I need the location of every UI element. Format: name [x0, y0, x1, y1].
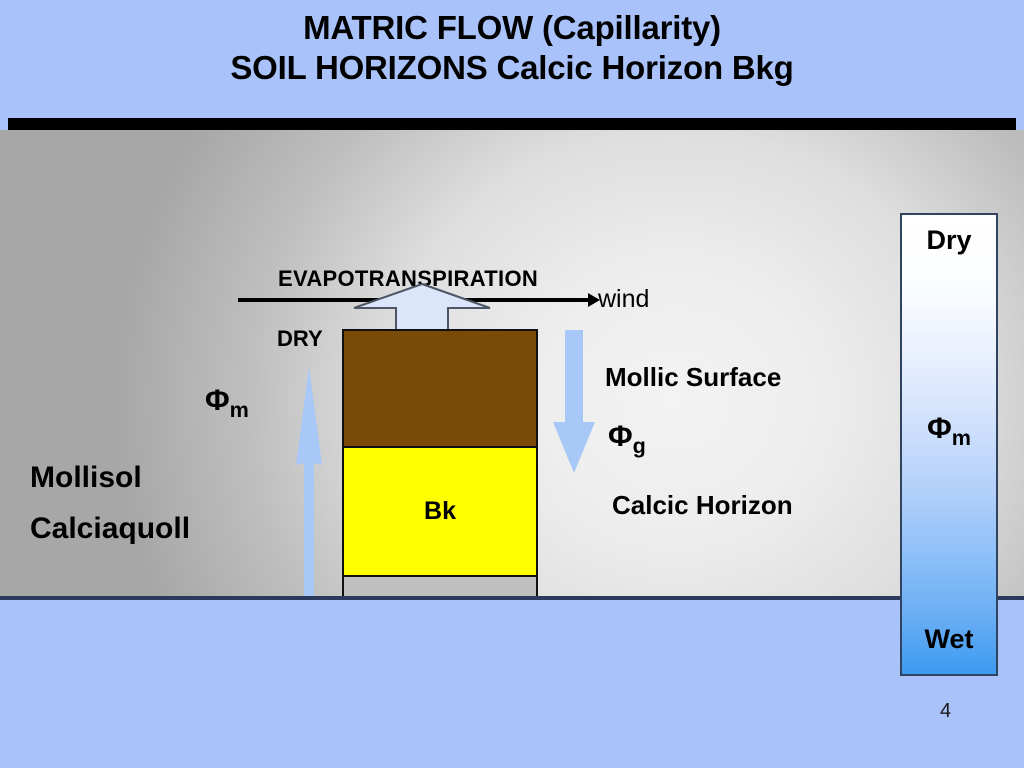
wind-label: wind	[598, 285, 649, 314]
phi-gravity-symbol: Φ	[608, 420, 633, 453]
dry-label: DRY	[277, 326, 323, 352]
mollic-surface-label: Mollic Surface	[605, 362, 781, 393]
moisture-bar-wet-label: Wet	[902, 624, 996, 655]
phi-gravity-subscript: g	[633, 433, 646, 458]
moisture-gradient-bar: Dry Φm Wet	[900, 213, 998, 676]
phi-matric-symbol: Φ	[205, 384, 230, 417]
moisture-bar-phi-subscript: m	[952, 425, 971, 450]
title-line-2: SOIL HORIZONS Calcic Horizon Bkg	[0, 48, 1024, 88]
saturated-water-zone	[0, 596, 1024, 768]
phi-matric-subscript: m	[230, 397, 249, 422]
soil-layer-mollic	[344, 331, 536, 446]
soil-layer-bk: Bk	[344, 446, 536, 577]
page-title: MATRIC FLOW (Capillarity) SOIL HORIZONS …	[0, 8, 1024, 88]
soil-layer-bk-label: Bk	[424, 497, 456, 526]
phi-gravity-label: Φg	[608, 420, 646, 459]
soil-order-label: Mollisol	[30, 461, 142, 495]
moisture-bar-phi-symbol: Φ	[927, 412, 952, 445]
moisture-bar-dry-label: Dry	[902, 225, 996, 256]
moisture-bar-phi-label: Φm	[902, 412, 996, 451]
title-line-1: MATRIC FLOW (Capillarity)	[0, 8, 1024, 48]
soil-profile-panel: wind EVAPOTRANSPIRATION DRY Bk Bkg	[0, 130, 1024, 596]
slide-canvas: MATRIC FLOW (Capillarity) SOIL HORIZONS …	[0, 0, 1024, 768]
calcic-horizon-label: Calcic Horizon	[612, 490, 793, 521]
soil-subgroup-label: Calciaquoll	[30, 512, 190, 546]
page-number: 4	[940, 700, 951, 723]
gravity-flow-down-arrow-icon	[552, 330, 596, 473]
phi-matric-label: Φm	[205, 384, 249, 423]
title-divider	[8, 118, 1016, 130]
